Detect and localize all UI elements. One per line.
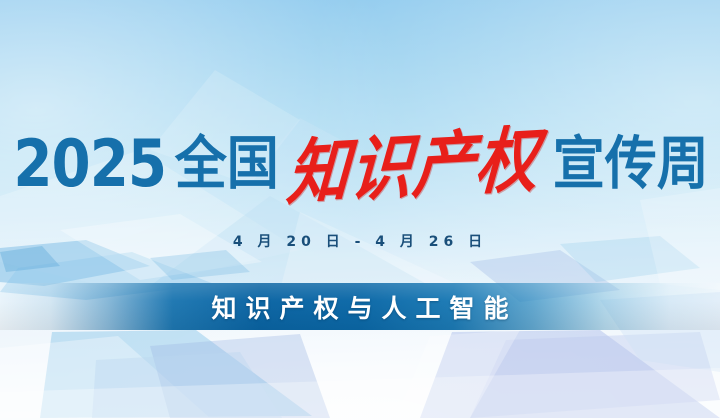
ip-week-banner: 2025 全国 知识产权 宣传周 4 月 20 日 - 4 月 26 日 知识产… (0, 0, 720, 420)
headline: 2025 全国 知识产权 宣传周 (0, 124, 720, 210)
headline-emphasis: 知识产权 (285, 124, 541, 209)
theme-band: 知识产权与人工智能 (0, 283, 720, 330)
shape-mountain-center-b (280, 212, 470, 290)
headline-suffix: 宣传周 (553, 136, 709, 193)
theme-text: 知识产权与人工智能 (202, 289, 517, 325)
headline-prefix: 全国 (175, 136, 279, 193)
headline-year: 2025 (14, 131, 167, 196)
date-range: 4 月 20 日 - 4 月 26 日 (0, 231, 720, 251)
